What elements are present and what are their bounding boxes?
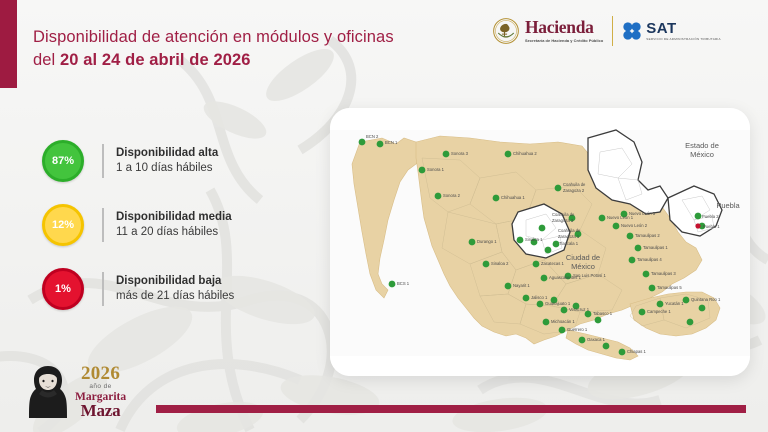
margarita-maza-portrait-icon bbox=[26, 362, 70, 422]
svg-text:Puebla: Puebla bbox=[716, 201, 740, 210]
legend-title-alta: Disponibilidad alta bbox=[116, 146, 218, 161]
margarita-maza-badge: 2026 año de Margarita Maza bbox=[26, 362, 126, 422]
svg-text:Zaragoza 2: Zaragoza 2 bbox=[563, 188, 585, 193]
svg-text:Coahuila de: Coahuila de bbox=[558, 228, 581, 233]
page-title: Disponibilidad de atención en módulos y … bbox=[33, 26, 463, 73]
legend-title-media: Disponibilidad media bbox=[116, 210, 232, 225]
svg-text:Guerrero 1: Guerrero 1 bbox=[567, 327, 588, 332]
svg-text:Zaragoza 3: Zaragoza 3 bbox=[552, 218, 574, 223]
left-accent-stripe bbox=[0, 0, 17, 88]
svg-text:Durango 1: Durango 1 bbox=[477, 239, 497, 244]
svg-text:Oaxaca 1: Oaxaca 1 bbox=[587, 337, 606, 342]
svg-text:Yucatán 1: Yucatán 1 bbox=[665, 301, 684, 306]
mexico-map-card: Estado de México Ciudad de México Puebla bbox=[330, 108, 750, 376]
margarita-name-last: Maza bbox=[81, 402, 121, 419]
mexico-map-svg: Estado de México Ciudad de México Puebla bbox=[330, 108, 750, 376]
sat-word: SAT bbox=[646, 21, 721, 36]
svg-text:Tamaulipas 2: Tamaulipas 2 bbox=[635, 233, 660, 238]
legend-item-media: 12% Disponibilidad media 11 a 20 días há… bbox=[42, 204, 234, 246]
legend-divider bbox=[102, 208, 104, 242]
svg-text:Tamaulipas 4: Tamaulipas 4 bbox=[637, 257, 662, 262]
svg-text:Tamaulipas 5: Tamaulipas 5 bbox=[657, 285, 682, 290]
status-badge-media: 12% bbox=[42, 204, 84, 246]
svg-text:Ciudad de: Ciudad de bbox=[566, 253, 600, 262]
svg-text:Sinaloa 2: Sinaloa 2 bbox=[491, 261, 509, 266]
legend-item-alta: 87% Disponibilidad alta 1 a 10 días hábi… bbox=[42, 140, 234, 182]
svg-text:BCN 2: BCN 2 bbox=[366, 134, 379, 139]
hacienda-subtitle: Secretaría de Hacienda y Crédito Público bbox=[525, 39, 603, 43]
svg-text:Sonora 3: Sonora 3 bbox=[451, 151, 469, 156]
slide-canvas: Disponibilidad de atención en módulos y … bbox=[0, 0, 768, 432]
legend-divider bbox=[102, 144, 104, 178]
legend-text-media: Disponibilidad media 11 a 20 días hábile… bbox=[116, 210, 232, 239]
svg-text:México: México bbox=[690, 150, 714, 159]
svg-text:BCS 1: BCS 1 bbox=[397, 281, 410, 286]
svg-text:Tlaxcala 1: Tlaxcala 1 bbox=[559, 241, 579, 246]
legend-title-baja: Disponibilidad baja bbox=[116, 274, 234, 289]
mexico-coat-of-arms-icon bbox=[493, 18, 519, 44]
svg-text:Michoacán 1: Michoacán 1 bbox=[551, 319, 575, 324]
page-title-line2: del 20 al 24 de abril de 2026 bbox=[33, 49, 463, 72]
legend-text-baja: Disponibilidad baja más de 21 días hábil… bbox=[116, 274, 234, 303]
page-title-line2-prefix: del bbox=[33, 51, 60, 69]
svg-text:Coahuila de: Coahuila de bbox=[563, 182, 586, 187]
svg-text:Nuevo León 2: Nuevo León 2 bbox=[621, 223, 648, 228]
legend-subtitle-media: 11 a 20 días hábiles bbox=[116, 225, 232, 240]
hacienda-wordmark: Hacienda Secretaría de Hacienda y Crédit… bbox=[525, 19, 603, 43]
sat-logo: SAT SERVICIO DE ADMINISTRACIÓN TRIBUTARI… bbox=[622, 21, 721, 41]
svg-text:Guanajuato 1: Guanajuato 1 bbox=[545, 301, 571, 306]
svg-text:Campeche 1: Campeche 1 bbox=[647, 309, 671, 314]
margarita-maza-text: 2026 año de Margarita Maza bbox=[75, 364, 126, 422]
page-title-line1: Disponibilidad de atención en módulos y … bbox=[33, 28, 394, 46]
legend-item-baja: 1% Disponibilidad baja más de 21 días há… bbox=[42, 268, 234, 310]
svg-text:Nayarit 1: Nayarit 1 bbox=[513, 283, 530, 288]
svg-text:Zaragoza 1: Zaragoza 1 bbox=[558, 234, 580, 239]
svg-text:Puebla 2: Puebla 2 bbox=[702, 214, 719, 219]
svg-text:Veracruz 1: Veracruz 1 bbox=[569, 307, 590, 312]
availability-legend: 87% Disponibilidad alta 1 a 10 días hábi… bbox=[42, 140, 234, 310]
legend-text-alta: Disponibilidad alta 1 a 10 días hábiles bbox=[116, 146, 218, 175]
svg-text:Puebla 1: Puebla 1 bbox=[703, 224, 720, 229]
svg-text:Tamaulipas 3: Tamaulipas 3 bbox=[651, 271, 676, 276]
logo-divider bbox=[612, 16, 613, 46]
svg-text:Jalisco 1: Jalisco 1 bbox=[531, 295, 548, 300]
legend-subtitle-alta: 1 a 10 días hábiles bbox=[116, 161, 218, 176]
sat-wordmark: SAT SERVICIO DE ADMINISTRACIÓN TRIBUTARI… bbox=[646, 21, 721, 41]
margarita-anio-de: año de bbox=[89, 384, 111, 391]
svg-text:Sonora 2: Sonora 2 bbox=[443, 193, 461, 198]
footer-accent-bar bbox=[156, 405, 746, 413]
svg-text:Tabasco 1: Tabasco 1 bbox=[593, 311, 613, 316]
svg-text:Tamaulipas 1: Tamaulipas 1 bbox=[643, 245, 668, 250]
sat-subtitle: SERVICIO DE ADMINISTRACIÓN TRIBUTARIA bbox=[646, 38, 721, 41]
svg-text:Zacatecas 1: Zacatecas 1 bbox=[541, 261, 564, 266]
header-logos: Hacienda Secretaría de Hacienda y Crédit… bbox=[493, 12, 721, 50]
margarita-year: 2026 bbox=[81, 364, 120, 383]
svg-text:BCN 1: BCN 1 bbox=[385, 140, 398, 145]
svg-text:México: México bbox=[571, 262, 595, 271]
legend-divider bbox=[102, 272, 104, 306]
svg-text:Nuevo León 3: Nuevo León 3 bbox=[629, 211, 656, 216]
sat-four-circles-icon bbox=[622, 21, 642, 41]
svg-text:Chihuahua 1: Chihuahua 1 bbox=[501, 195, 525, 200]
legend-subtitle-baja: más de 21 días hábiles bbox=[116, 289, 234, 304]
page-title-dates: 20 al 24 de abril de 2026 bbox=[60, 51, 251, 69]
status-badge-baja: 1% bbox=[42, 268, 84, 310]
svg-text:Chiapas 1: Chiapas 1 bbox=[627, 349, 647, 354]
hacienda-word: Hacienda bbox=[525, 19, 603, 37]
svg-text:Chihuahua 2: Chihuahua 2 bbox=[513, 151, 537, 156]
svg-text:San Luis Potosí 1: San Luis Potosí 1 bbox=[573, 273, 606, 278]
hacienda-logo: Hacienda Secretaría de Hacienda y Crédit… bbox=[493, 18, 603, 44]
svg-text:Coahuila de: Coahuila de bbox=[552, 212, 575, 217]
svg-text:Estado de: Estado de bbox=[685, 141, 719, 150]
svg-text:Sinaloa 1: Sinaloa 1 bbox=[525, 237, 543, 242]
svg-text:Sonora 1: Sonora 1 bbox=[427, 167, 445, 172]
status-badge-alta: 87% bbox=[42, 140, 84, 182]
svg-text:Quintana Roo 1: Quintana Roo 1 bbox=[691, 297, 721, 302]
